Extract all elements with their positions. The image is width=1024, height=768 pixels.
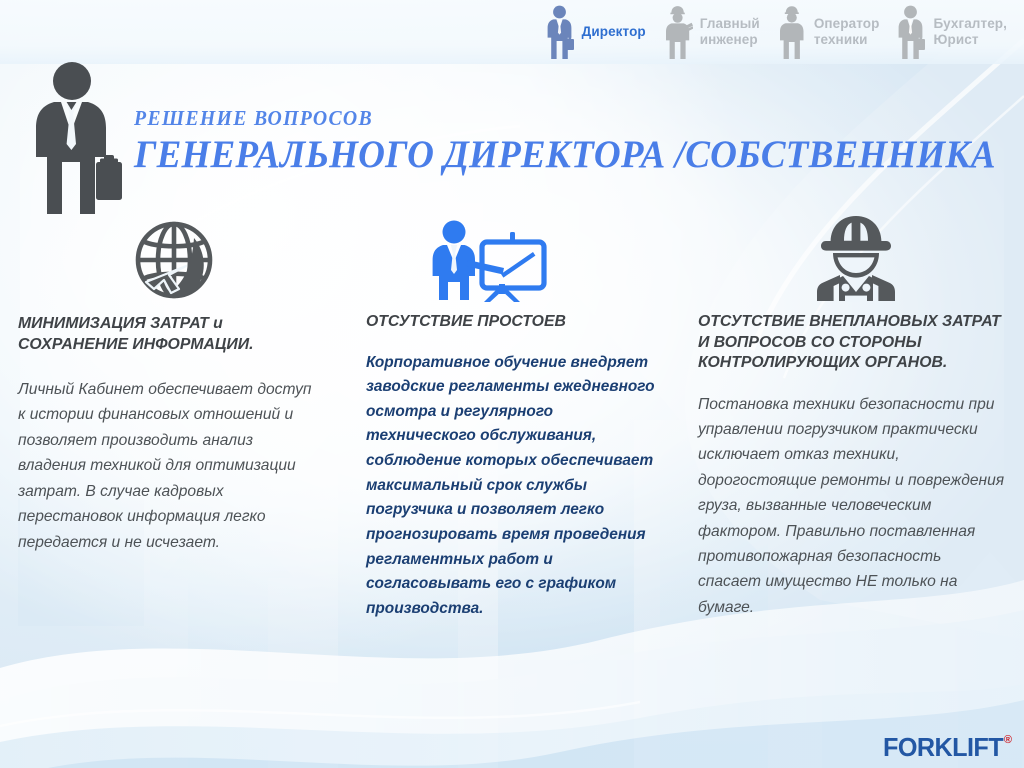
logo-wordmark: FORKLIFT bbox=[883, 734, 1003, 760]
slide-root: Директор Главный инженер bbox=[0, 0, 1024, 768]
lawyer-icon bbox=[896, 4, 926, 60]
benefit-column-no-unplanned-costs: ОТСУТСТВИЕ ВНЕПЛАНОВЫХ ЗАТРАТ И ВОПРОСОВ… bbox=[688, 206, 1024, 768]
column-heading: МИНИМИЗАЦИЯ ЗАТРАТ и СОХРАНЕНИЕ ИНФОРМАЦ… bbox=[18, 314, 316, 355]
page-title: ГЕНЕРАЛЬНОГО ДИРЕКТОРА /СОБСТВЕННИКА bbox=[134, 134, 970, 176]
column-body: Личный Кабинет обеспечивает доступ к ист… bbox=[18, 377, 316, 555]
benefit-column-no-downtime: ОТСУТСТВИЕ ПРОСТОЕВ Корпоративное обучен… bbox=[358, 206, 688, 768]
column-icon-slot bbox=[698, 206, 1006, 302]
column-heading: ОТСУТСТВИЕ ПРОСТОЕВ bbox=[366, 312, 658, 333]
operator-icon bbox=[777, 4, 807, 60]
logo-trademark-icon: ® bbox=[1004, 735, 1012, 746]
title-eyebrow: РЕШЕНИЕ ВОПРОСОВ bbox=[134, 106, 961, 131]
column-icon-slot bbox=[18, 206, 316, 302]
engineer-icon bbox=[663, 4, 693, 60]
role-navigation-bar: Директор Главный инженер bbox=[0, 0, 1024, 64]
hardhat-worker-icon bbox=[810, 212, 902, 302]
businessman-large-icon bbox=[30, 58, 134, 218]
globe-cursor-icon bbox=[132, 218, 216, 302]
benefit-column-cost-minimization: МИНИМИЗАЦИЯ ЗАТРАТ и СОХРАНЕНИЕ ИНФОРМАЦ… bbox=[0, 206, 358, 768]
benefit-columns: МИНИМИЗАЦИЯ ЗАТРАТ и СОХРАНЕНИЕ ИНФОРМАЦ… bbox=[0, 206, 1024, 768]
column-body: Постановка техники безопасности при упра… bbox=[698, 392, 1006, 621]
forklift-logo: FORKLIFT ® bbox=[883, 734, 1012, 760]
column-icon-slot bbox=[366, 206, 658, 302]
businessman-icon bbox=[545, 4, 575, 60]
column-body: Корпоративное обучение внедряет заводски… bbox=[366, 351, 658, 622]
nav-item-label: Бухгалтер, Юрист bbox=[933, 16, 1007, 49]
nav-item-engineer[interactable]: Главный инженер bbox=[657, 1, 771, 63]
title-block: РЕШЕНИЕ ВОПРОСОВ ГЕНЕРАЛЬНОГО ДИРЕКТОРА … bbox=[134, 106, 1014, 176]
column-heading: ОТСУТСТВИЕ ВНЕПЛАНОВЫХ ЗАТРАТ И ВОПРОСОВ… bbox=[698, 312, 1006, 374]
nav-item-director[interactable]: Директор bbox=[539, 1, 657, 63]
nav-item-accountant-lawyer[interactable]: Бухгалтер, Юрист bbox=[890, 1, 1018, 63]
nav-item-label: Директор bbox=[582, 24, 646, 40]
nav-item-label: Главный инженер bbox=[700, 16, 760, 49]
nav-item-operator[interactable]: Оператор техники bbox=[771, 1, 891, 63]
presenter-whiteboard-icon bbox=[430, 218, 548, 302]
nav-item-label: Оператор техники bbox=[814, 16, 880, 49]
